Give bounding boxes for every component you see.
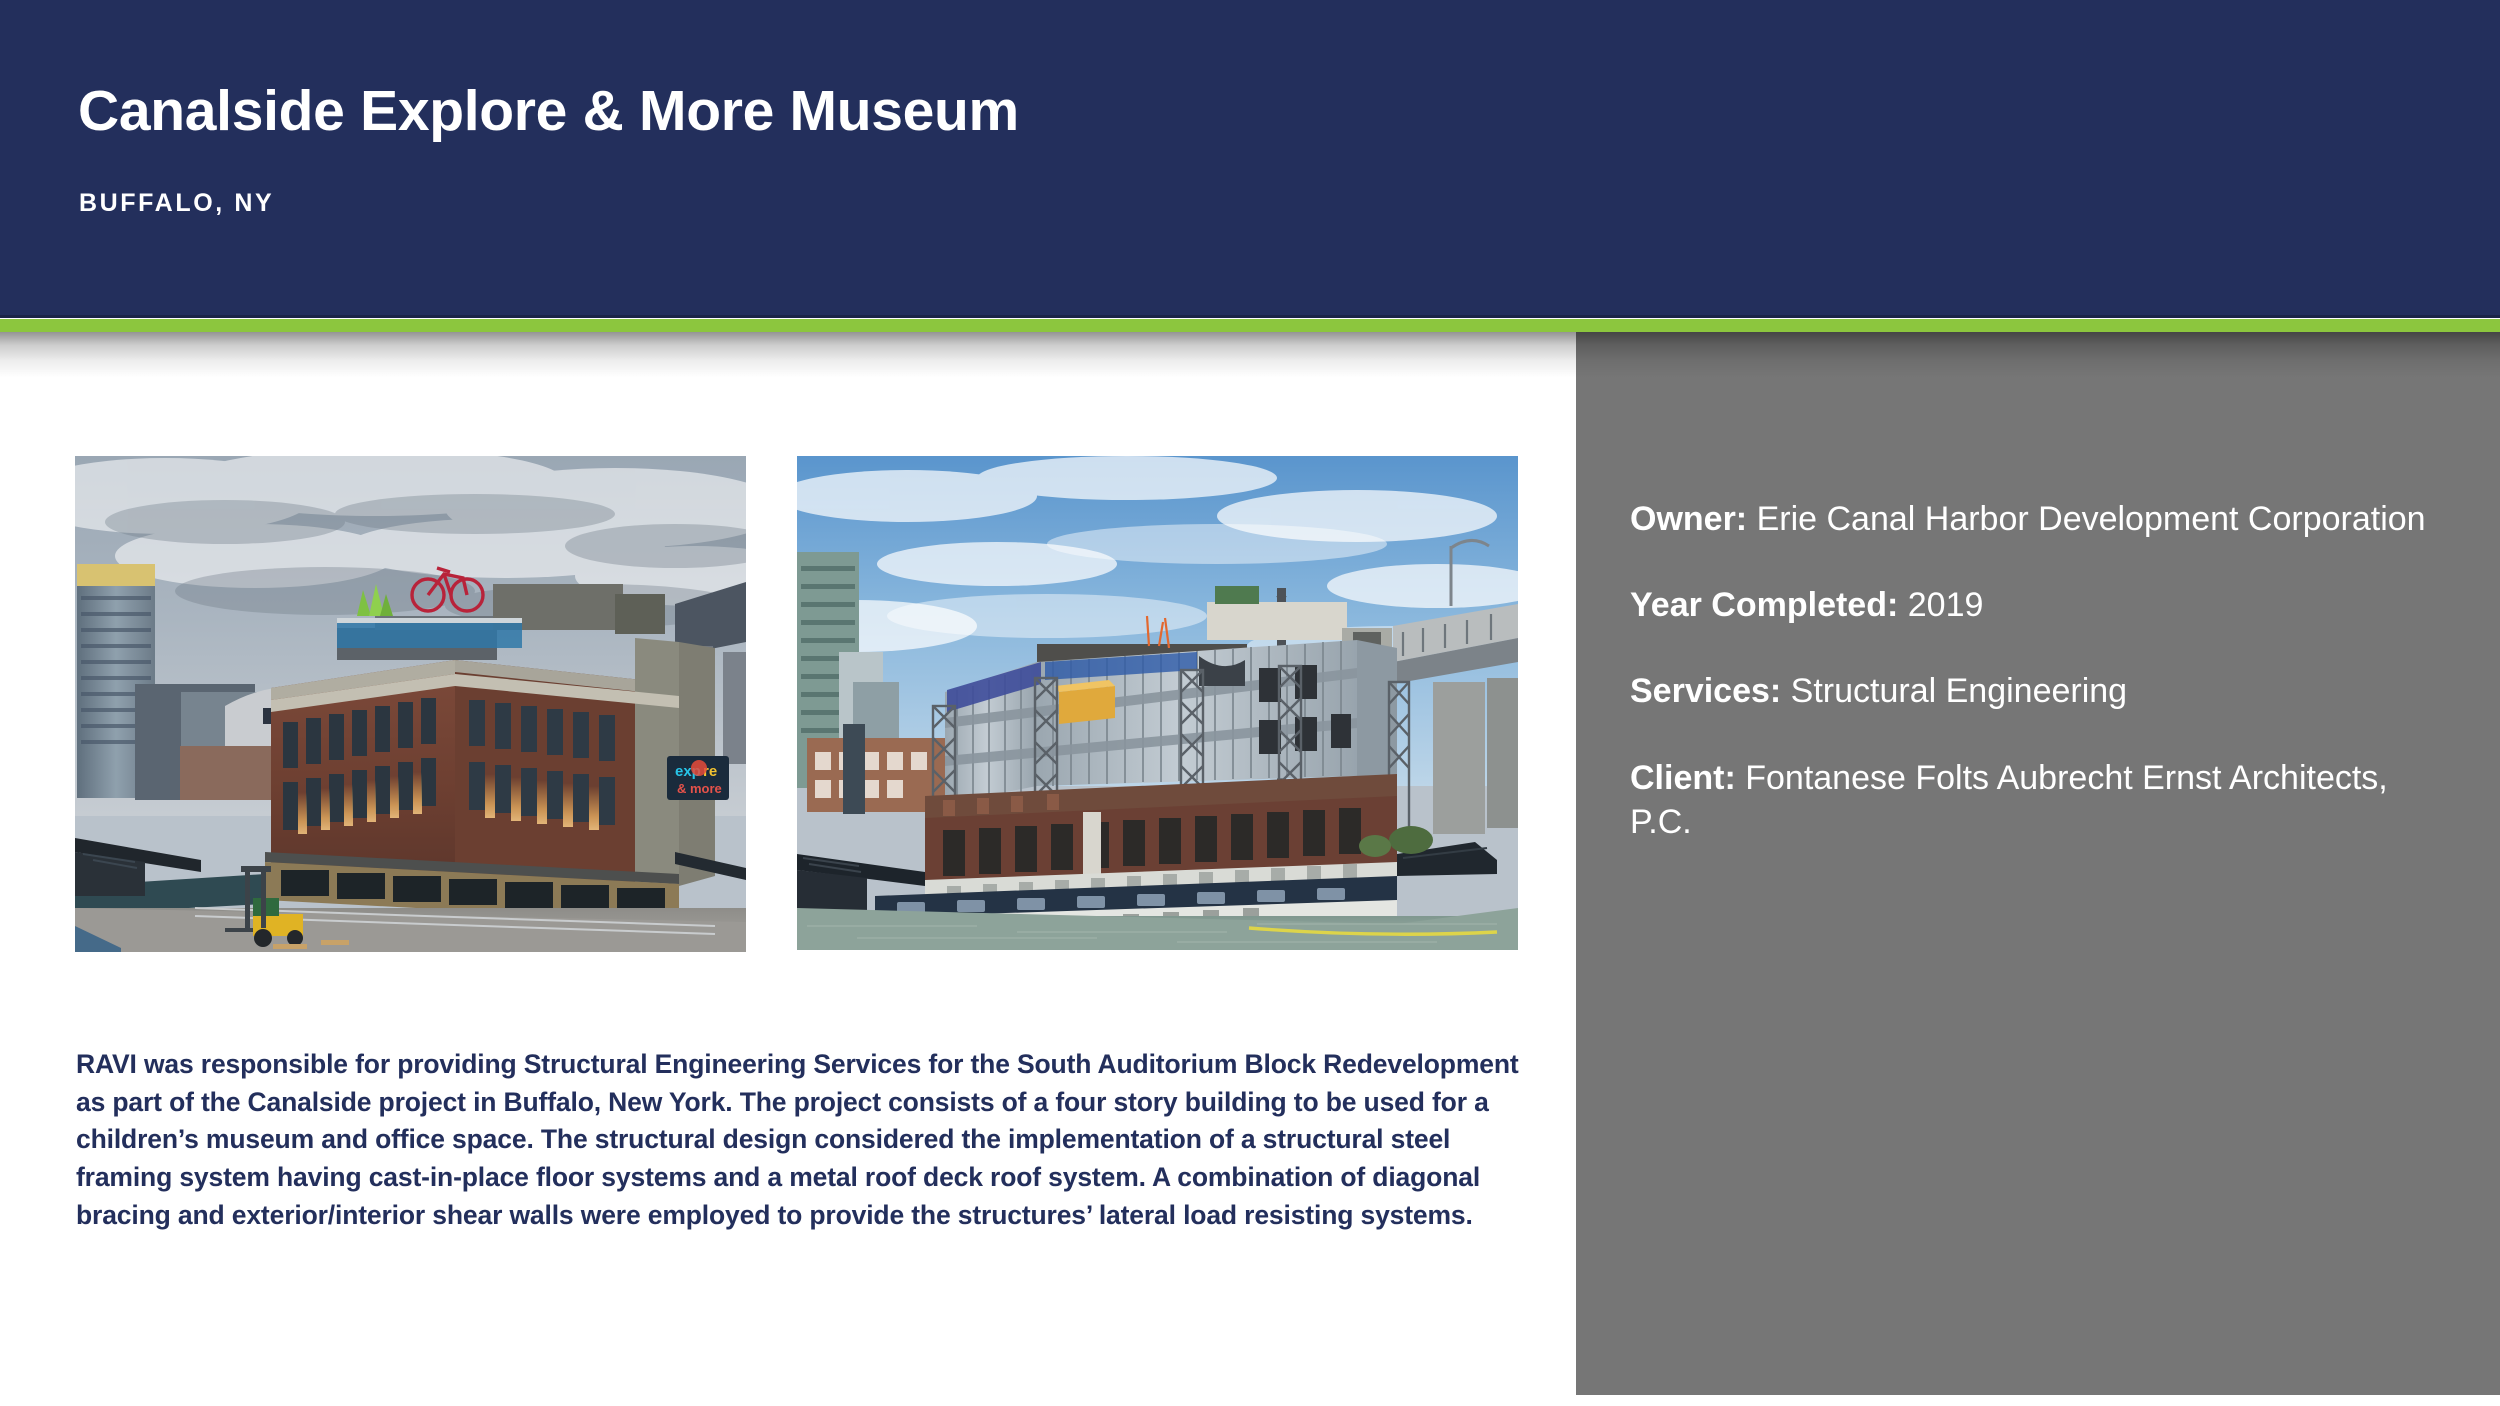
header-band: Canalside Explore & More Museum BUFFALO,…	[0, 0, 2500, 318]
detail-row-owner: Owner: Erie Canal Harbor Development Cor…	[1630, 497, 2430, 541]
detail-label-year-completed: Year Completed:	[1630, 586, 1898, 624]
detail-value-owner: Erie Canal Harbor Development Corporatio…	[1747, 500, 2425, 538]
completed-museum-illustration: exp re & more	[75, 456, 746, 952]
green-accent-bar	[0, 319, 2500, 332]
detail-value-services: Structural Engineering	[1781, 672, 2127, 710]
construction-progress-photo	[797, 456, 1518, 950]
detail-row-services: Services: Structural Engineering	[1630, 669, 2430, 713]
project-description: RAVI was responsible for providing Struc…	[76, 1046, 1526, 1234]
completed-museum-photo: exp re & more	[75, 456, 746, 952]
page-subtitle-location: BUFFALO, NY	[79, 190, 274, 218]
project-slide: Canalside Explore & More Museum BUFFALO,…	[0, 0, 2500, 1406]
detail-row-client: Client: Fontanese Folts Aubrecht Ernst A…	[1630, 756, 2430, 844]
project-details-list: Owner: Erie Canal Harbor Development Cor…	[1630, 497, 2430, 844]
detail-row-year-completed: Year Completed: 2019	[1630, 583, 2430, 627]
detail-value-client: Fontanese Folts Aubrecht Ernst Architect…	[1630, 759, 2388, 841]
project-details-panel: Owner: Erie Canal Harbor Development Cor…	[1576, 332, 2500, 1395]
detail-label-services: Services:	[1630, 672, 1781, 710]
detail-label-client: Client:	[1630, 759, 1736, 797]
svg-text:& more: & more	[677, 781, 722, 796]
construction-progress-illustration	[797, 456, 1518, 950]
page-title: Canalside Explore & More Museum	[78, 82, 1019, 142]
detail-label-owner: Owner:	[1630, 500, 1747, 538]
detail-value-year-completed: 2019	[1898, 586, 1983, 624]
